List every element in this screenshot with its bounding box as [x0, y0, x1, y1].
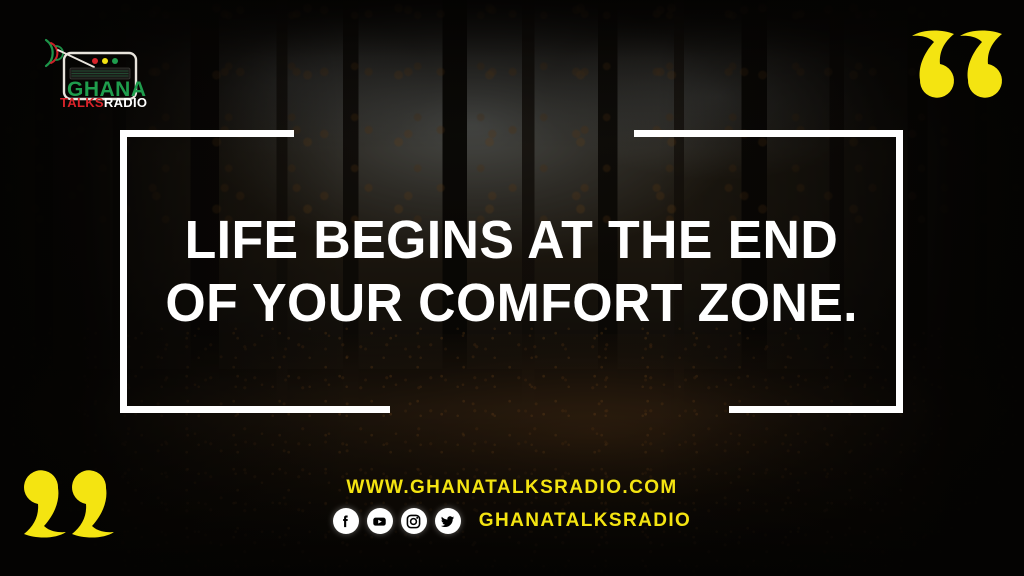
quote-line-2: OF YOUR COMFORT ZONE.: [165, 273, 858, 333]
instagram-icon[interactable]: [401, 508, 427, 534]
website-url[interactable]: WWW.GHANATALKSRADIO.COM: [346, 477, 677, 499]
ghana-talks-radio-logo[interactable]: GHANA TALKSRADIO: [34, 26, 164, 108]
twitter-icon[interactable]: [435, 508, 461, 534]
quote-card: GHANA TALKSRADIO: [0, 0, 1024, 576]
social-links-row: GHANATALKSRADIO: [333, 508, 691, 534]
youtube-icon[interactable]: [367, 508, 393, 534]
svg-text:TALKSRADIO: TALKSRADIO: [60, 95, 147, 108]
decorative-closing-quote-mark: [910, 28, 1006, 104]
footer: WWW.GHANATALKSRADIO.COM: [0, 477, 1024, 534]
facebook-icon[interactable]: [333, 508, 359, 534]
quote-text-block: LIFE BEGINS AT THE END OF YOUR COMFORT Z…: [120, 130, 903, 413]
social-handle[interactable]: GHANATALKSRADIO: [479, 510, 691, 532]
quote-line-1: LIFE BEGINS AT THE END: [185, 210, 839, 270]
